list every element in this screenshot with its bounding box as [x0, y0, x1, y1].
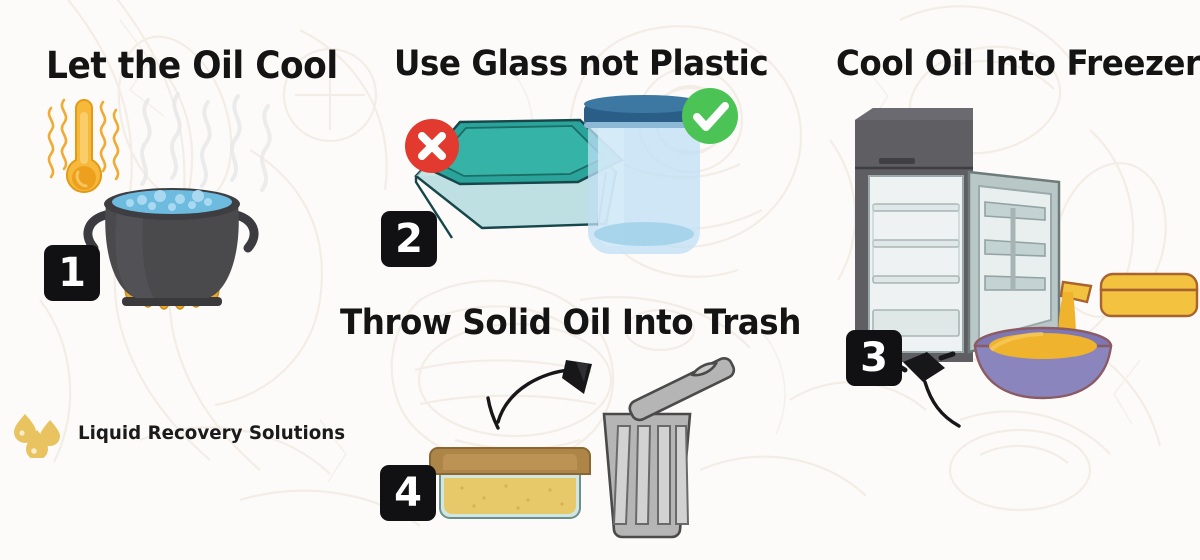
- step-4-title: Throw Solid Oil Into Trash: [340, 303, 801, 343]
- power-plug-icon: [895, 352, 959, 426]
- step-2-title: Use Glass not Plastic: [394, 44, 768, 84]
- brand-name: Liquid Recovery Solutions: [78, 422, 345, 444]
- arrow-icon: [488, 360, 592, 428]
- thermometer-icon: [67, 100, 101, 192]
- step-4-badge: 4: [380, 465, 436, 521]
- reject-icon: [405, 119, 459, 173]
- step-2-badge: 2: [381, 211, 437, 267]
- step-3-title: Cool Oil Into Freezer: [836, 44, 1200, 84]
- step-1-title: Let the Oil Cool: [46, 44, 338, 87]
- step-1-badge: 1: [44, 245, 100, 301]
- step-3-badge: 3: [846, 330, 902, 386]
- brand-logo: Liquid Recovery Solutions: [8, 408, 356, 458]
- solid-oil-container: [430, 448, 590, 518]
- trash-can-icon: [604, 354, 737, 537]
- oil-droplets-icon: [8, 408, 66, 458]
- infographic-canvas: Let the Oil Cool: [0, 0, 1200, 560]
- approve-icon: [682, 88, 738, 144]
- step-2-illustration: [392, 88, 742, 268]
